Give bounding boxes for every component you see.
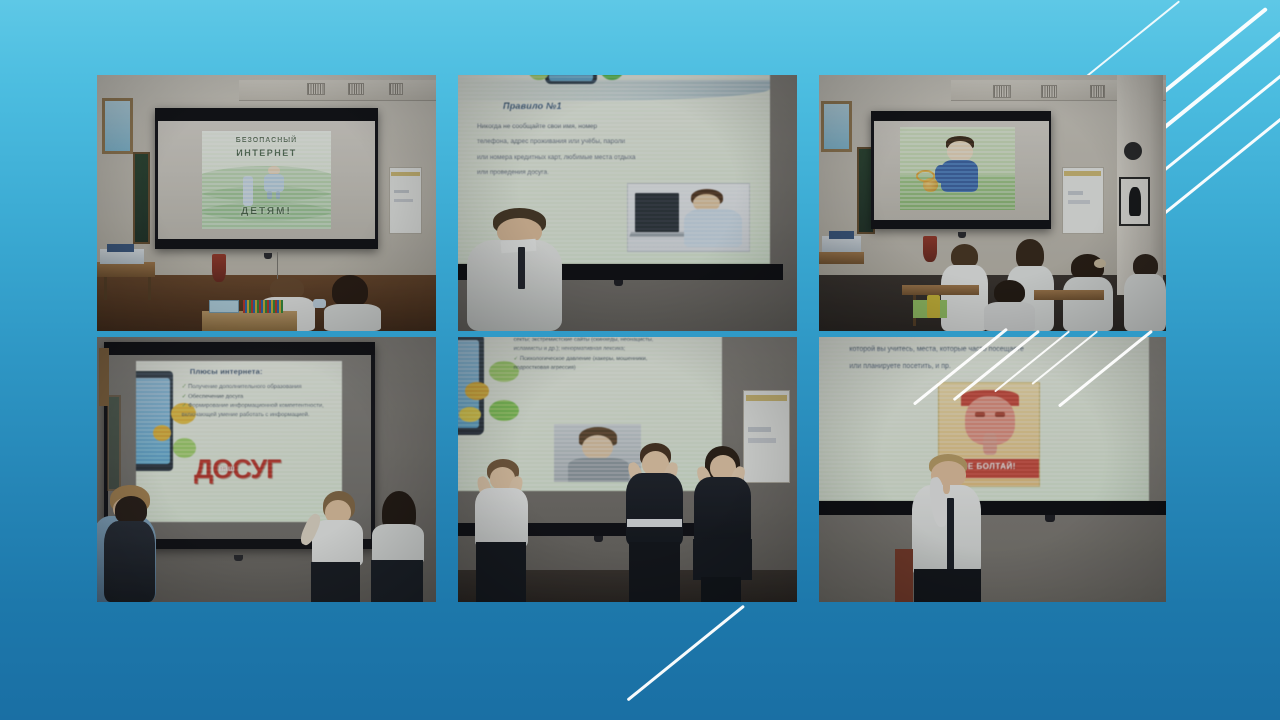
necktie — [518, 247, 525, 289]
whiteboard-note — [1068, 191, 1084, 194]
vent-grille-icon — [1041, 85, 1057, 98]
wave-decor — [202, 186, 332, 221]
slide-title-line2: ИНТЕРНЕТ — [236, 148, 296, 158]
slide-swoosh — [458, 80, 770, 100]
child-hair — [691, 189, 723, 205]
green-bubble-icon — [489, 361, 519, 382]
poster-eye — [975, 412, 985, 417]
jacket-stripe — [627, 519, 681, 527]
slide-title-line3: ДЕТЯМ! — [241, 206, 292, 217]
cartoon-arm — [935, 165, 949, 183]
classroom-scene: Плюсы интернета: Получение дополнительно… — [97, 337, 436, 602]
phone-screen — [458, 340, 479, 427]
child-head — [268, 166, 280, 175]
cartoon-head — [947, 141, 972, 162]
pupil-desk — [202, 311, 297, 331]
whiteboard-note — [394, 190, 409, 193]
cartoon-ring — [916, 170, 934, 182]
phone-illustration — [458, 337, 484, 435]
screen-pull-handle — [958, 232, 966, 238]
pupil-pointing — [307, 491, 368, 602]
girl-standing-left — [472, 459, 533, 602]
screen-top-bar — [155, 108, 379, 121]
photo-boy-presenting-rule-1[interactable]: Правило №1 Никогда не сообщайте свои имя… — [458, 75, 797, 331]
rule6-body-line-2: которой вы учитесь, места, которые часто… — [849, 346, 1024, 353]
phone-illustration — [136, 371, 173, 471]
pupil-shirt — [1124, 274, 1166, 331]
girl-jacket — [626, 473, 683, 546]
wall-map-poster — [102, 98, 133, 154]
advantages-title: Плюсы интернета: — [190, 367, 263, 376]
cartoon-ball — [923, 178, 938, 191]
laptop-base — [629, 232, 689, 237]
projector-screen — [871, 111, 1051, 229]
whiteboard-clip — [391, 172, 419, 176]
hair-scrunchie — [1094, 259, 1105, 268]
girl-skirt — [476, 542, 526, 602]
screen-pull-handle — [594, 536, 603, 542]
drawback-bullet-1: Вредная информация (асоциальные сайты; р… — [514, 337, 671, 353]
child-body — [684, 209, 742, 247]
poster-eye — [995, 412, 1005, 417]
side-cabinet — [819, 252, 864, 265]
pupil-seated — [1124, 254, 1166, 331]
poster-headscarf — [961, 390, 1019, 406]
advantage-bullet-1: Получение дополнительного образования — [182, 383, 343, 391]
rule-body-line-2: телефона, адрес проживания или учёбы, па… — [477, 138, 625, 145]
screen-top-bar — [104, 342, 375, 354]
photo-classroom-title-slide[interactable]: БЕЗОПАСНЫЙ ИНТЕРНЕТ ДЕТЯМ! — [97, 75, 436, 331]
rule-body-line-4: или проведения досуга. — [477, 169, 549, 176]
pupil-shirt — [312, 520, 363, 567]
chalkboard — [133, 152, 150, 244]
rule6-body-line-3: или планируете посетить, и пр. — [849, 363, 950, 370]
drawbacks-bullets: Вредная информация (асоциальные сайты; р… — [514, 337, 671, 373]
advantages-bullets: Получение дополнительного образования Об… — [182, 383, 343, 420]
pupil-hair — [1016, 239, 1044, 270]
pupil-skirt — [371, 560, 423, 602]
vent-grille-icon — [993, 85, 1011, 98]
wordart-vash: ваш — [219, 464, 235, 473]
pupil-book — [313, 299, 325, 308]
screen-pull-handle — [234, 555, 243, 561]
boy-shirt — [467, 240, 563, 331]
chalkboard — [107, 395, 121, 490]
drawback-bullet-2: Психологическое давление (хакеры, мошенн… — [514, 355, 671, 372]
green-bubble-icon — [529, 75, 549, 80]
cabinet-leg — [104, 277, 107, 300]
whiteboard-note — [394, 199, 413, 202]
phone-screen — [549, 75, 593, 81]
slide-title-line1: БЕЗОПАСНЫЙ — [236, 137, 297, 144]
classroom-scene: БЕЗОПАСНЫЙ ИНТЕРНЕТ ДЕТЯМ! — [97, 75, 436, 331]
phone-illustration — [545, 75, 597, 84]
girl-jacket — [694, 477, 751, 546]
pupil-shirt — [941, 265, 988, 331]
poster-finger — [983, 433, 997, 456]
pupil-hair — [994, 280, 1025, 305]
whiteboard — [1062, 167, 1104, 234]
laptop-photo — [627, 183, 751, 253]
whiteboard-clip — [746, 395, 788, 401]
pupil-seated — [982, 280, 1038, 331]
wall-map-poster — [821, 101, 852, 152]
photo-boy-dont-blab[interactable]: ...не приводите никаких личных сведений … — [819, 337, 1166, 602]
cartoon-body — [941, 160, 978, 191]
pupil-desk — [1034, 290, 1103, 300]
child-leg — [267, 191, 271, 199]
child-leg — [276, 191, 280, 199]
vent-grille-icon — [389, 83, 403, 96]
pupil-skirt — [311, 562, 360, 602]
pupil-hair — [115, 496, 147, 524]
pupil-shirt — [984, 302, 1035, 331]
green-bubble-icon — [601, 75, 624, 80]
wall-clock-icon — [1124, 142, 1142, 160]
child-illustration — [259, 166, 290, 200]
screen-pull-handle — [614, 280, 623, 286]
pupil-hair — [270, 277, 304, 299]
whiteboard-note — [748, 438, 776, 443]
wave-decor — [202, 166, 332, 201]
projected-cartoon — [900, 127, 1015, 209]
girl-standing-right — [689, 446, 757, 602]
advantage-bullet-3: Формирование информационной компетентнос… — [182, 402, 336, 419]
girl-standing-center — [621, 443, 689, 602]
stacked-books — [107, 244, 134, 252]
photo-pupils-watching-cartoon[interactable] — [819, 75, 1166, 331]
pupil-shirt — [372, 524, 424, 564]
wall-trim — [99, 348, 109, 406]
rule-title: Правило №1 — [503, 101, 562, 111]
screen-bottom-bar — [871, 220, 1051, 228]
girl-trousers — [701, 577, 742, 602]
necktie — [947, 498, 954, 575]
pupil-hair — [332, 275, 369, 308]
phone-screen — [136, 378, 169, 464]
pupil-standing — [368, 491, 429, 602]
hanging-cloth — [923, 236, 937, 262]
cartoon-ground — [900, 175, 1015, 210]
laptop-screen — [635, 193, 679, 232]
classroom-scene: Правило №1 Никогда не сообщайте свои имя… — [458, 75, 797, 331]
finger-on-lips — [943, 479, 950, 494]
screen-top-bar — [871, 111, 1051, 122]
wordart-dosug: ДОСУГ — [194, 454, 280, 485]
pupil-desk — [902, 285, 978, 295]
stacked-books — [829, 231, 853, 239]
screen-bottom-bar — [155, 239, 379, 249]
green-bubble-icon — [173, 438, 196, 457]
child-figure-2 — [243, 176, 253, 206]
cartoon-hair — [946, 136, 974, 149]
boy-trousers — [914, 569, 981, 602]
photo-internet-advantages[interactable]: Плюсы интернета: Получение дополнительно… — [97, 337, 436, 602]
girl-skirt — [693, 539, 753, 580]
pupil-shirt — [324, 304, 380, 331]
rule-body-line-3: или номера кредитных карт, любимые места… — [477, 154, 636, 161]
child-head — [693, 194, 720, 212]
rule-body-line-1: Никогда не сообщайте свои имя, номер — [477, 123, 597, 130]
whiteboard — [389, 167, 423, 234]
screen-pull-handle — [264, 253, 272, 259]
boy-standing — [909, 454, 985, 602]
green-bubble-icon — [489, 400, 519, 421]
classroom-scene — [819, 75, 1166, 331]
yellow-bubble-icon — [171, 403, 196, 424]
poster-face — [965, 396, 1015, 445]
vent-grille-icon — [348, 83, 364, 96]
projected-title-slide: БЕЗОПАСНЫЙ ИНТЕРНЕТ ДЕТЯМ! — [202, 131, 332, 230]
advantage-bullet-2: Обеспечение досуга — [182, 393, 343, 401]
wave-decor — [202, 202, 332, 230]
girl-blouse — [475, 488, 527, 548]
pupil-shirt — [1063, 277, 1113, 331]
yellow-bubble-icon — [153, 425, 172, 441]
classroom-scene: Минусы интернета: Вредная информация (ас… — [458, 337, 797, 602]
yellow-bubble-icon — [459, 407, 481, 423]
ceiling-duct — [239, 80, 436, 100]
photo-internet-drawbacks[interactable]: Минусы интернета: Вредная информация (ас… — [458, 337, 797, 602]
hanging-cloth — [212, 254, 226, 282]
presenter-boy — [465, 208, 567, 331]
child-body — [264, 174, 285, 191]
photo-grid: БЕЗОПАСНЫЙ ИНТЕРНЕТ ДЕТЯМ! — [97, 75, 1167, 602]
whiteboard-clip — [1064, 171, 1100, 176]
screen-pull-handle — [1045, 515, 1055, 522]
screen-bottom-bar — [819, 501, 1166, 514]
chair-back — [895, 549, 912, 602]
vent-grille-icon — [307, 83, 325, 96]
pupil-standing — [100, 496, 161, 602]
yellow-bubble-icon — [465, 382, 489, 399]
projector-screen: БЕЗОПАСНЫЙ ИНТЕРНЕТ ДЕТЯМ! — [155, 108, 379, 249]
child-hair — [579, 427, 617, 447]
child-head — [582, 435, 613, 460]
cabinet-leg — [148, 277, 151, 300]
framed-picture — [1119, 177, 1150, 226]
whiteboard-note — [748, 427, 771, 432]
pencil-case — [243, 300, 284, 313]
whiteboard-note — [1068, 200, 1090, 203]
vent-grille-icon — [1090, 85, 1105, 98]
pupil-seated — [321, 275, 382, 331]
girl-trousers — [629, 542, 681, 602]
title-slide-art: БЕЗОПАСНЫЙ ИНТЕРНЕТ ДЕТЯМ! — [202, 131, 332, 230]
classroom-scene: ...не приводите никаких личных сведений … — [819, 337, 1166, 602]
accent-line — [627, 605, 745, 701]
exercise-book — [209, 300, 240, 313]
bottle — [927, 295, 941, 318]
picture-silhouette — [1129, 187, 1141, 216]
pupil-jacket — [104, 521, 155, 602]
